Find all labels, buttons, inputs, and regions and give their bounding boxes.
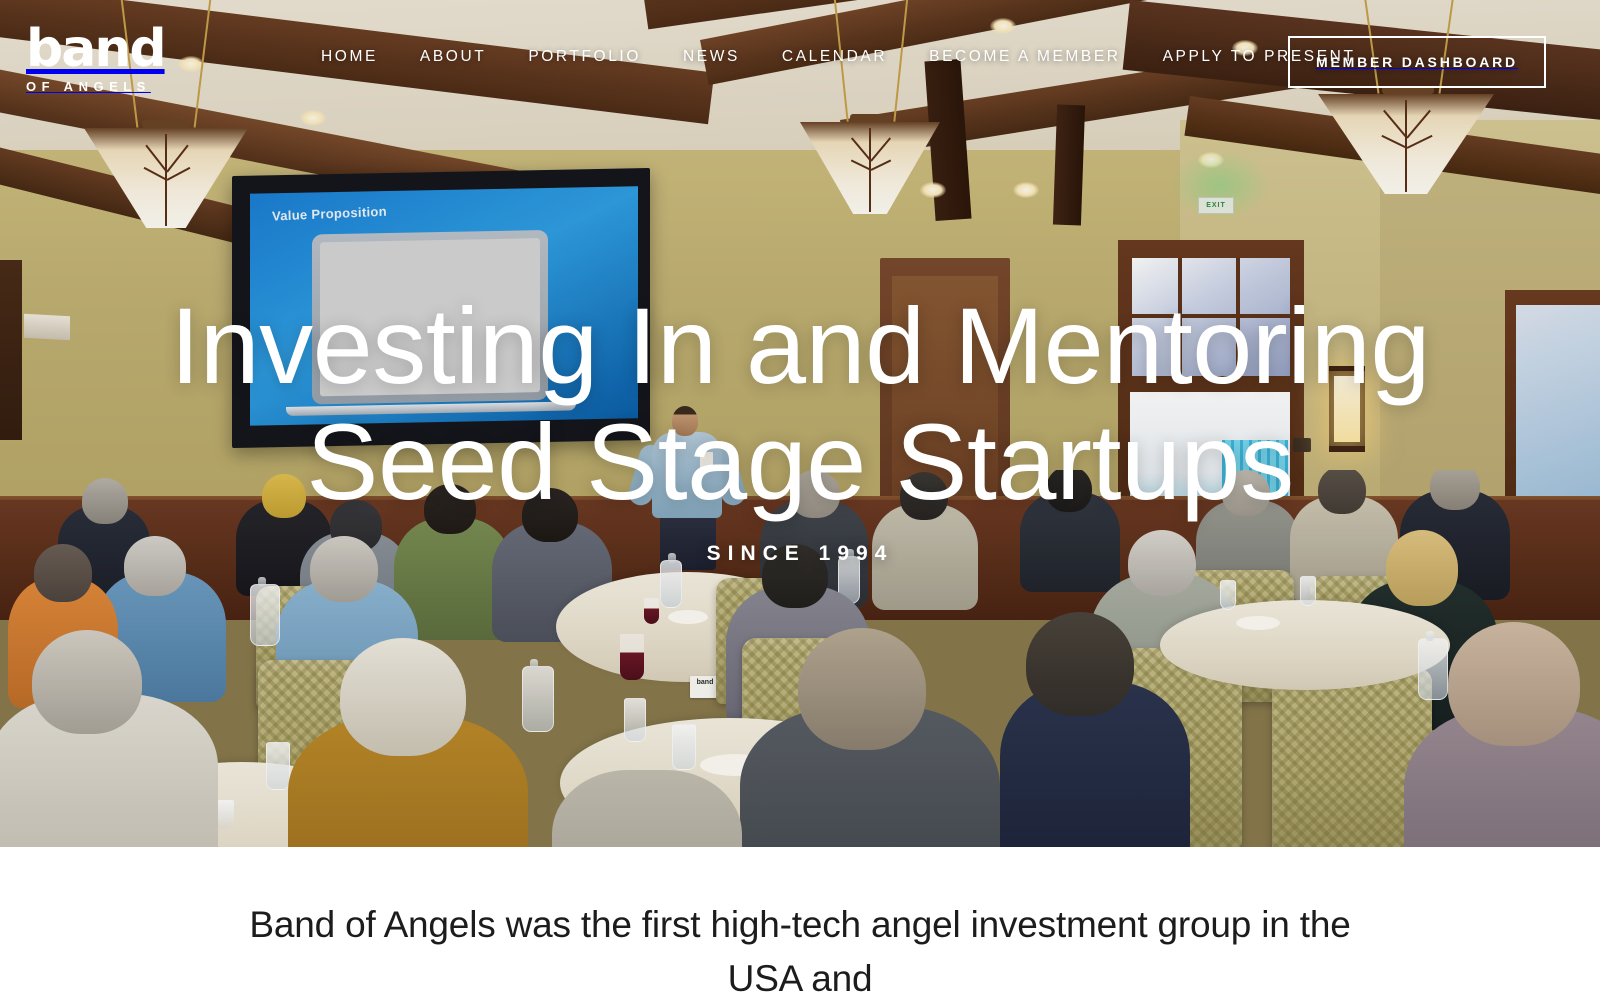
hero-section: EXIT xyxy=(0,0,1600,847)
nav-about[interactable]: ABOUT xyxy=(399,48,507,66)
intro-paragraph: Band of Angels was the first high-tech a… xyxy=(210,898,1390,1000)
logo-tagline: OF ANGELS xyxy=(26,79,196,94)
main-navigation: HOME ABOUT PORTFOLIO NEWS CALENDAR BECOM… xyxy=(300,48,1377,66)
member-dashboard-button[interactable]: MEMBER DASHBOARD xyxy=(1288,36,1546,88)
hero-image-tint xyxy=(0,0,1600,847)
nav-become-a-member[interactable]: BECOME A MEMBER xyxy=(908,48,1141,66)
nav-portfolio[interactable]: PORTFOLIO xyxy=(507,48,662,66)
member-dashboard-label: MEMBER DASHBOARD xyxy=(1316,54,1518,70)
site-logo[interactable]: band OF ANGELS xyxy=(26,26,196,94)
nav-calendar[interactable]: CALENDAR xyxy=(761,48,908,66)
page-root: EXIT xyxy=(0,0,1600,1000)
logo-wordmark: band xyxy=(26,26,196,72)
intro-section: Band of Angels was the first high-tech a… xyxy=(0,847,1600,1000)
site-header: band OF ANGELS HOME ABOUT PORTFOLIO NEWS… xyxy=(0,0,1600,124)
nav-news[interactable]: NEWS xyxy=(662,48,761,66)
hero-background-photo: EXIT xyxy=(0,0,1600,847)
nav-home[interactable]: HOME xyxy=(300,48,399,66)
